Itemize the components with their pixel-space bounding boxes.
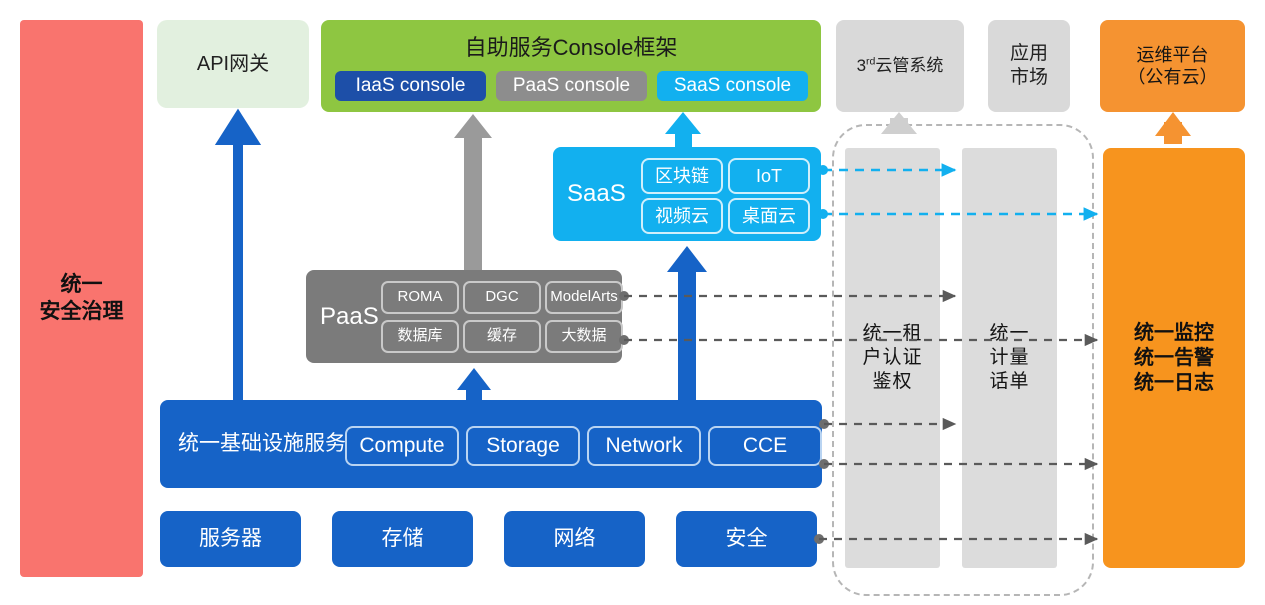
infra-chip-cce[interactable]: CCE (708, 426, 822, 466)
saas-chip-desktop-cloud-label: 桌面云 (742, 205, 796, 228)
arrow-infra-to-api-gateway (223, 117, 253, 400)
hardware-box-storage[interactable]: 存储 (332, 511, 473, 567)
unified-infrastructure-service-bar: 统一基础设施服务 Compute Storage Network CCE (160, 400, 822, 488)
hardware-box-server[interactable]: 服务器 (160, 511, 301, 567)
ops-platform-box[interactable]: 运维平台 （公有云） (1100, 20, 1245, 112)
api-gateway-box[interactable]: API网关 (157, 20, 309, 108)
saas-console-label: SaaS console (674, 74, 791, 98)
hardware-box-server-label: 服务器 (199, 526, 262, 552)
paas-chip-modelarts[interactable]: ModelArts (545, 281, 623, 314)
infra-chip-storage[interactable]: Storage (466, 426, 580, 466)
saas-chip-video-cloud-label: 视频云 (655, 205, 709, 228)
self-service-console-frame: 自助服务Console框架 IaaS console PaaS console … (321, 20, 821, 112)
service-column-tenant-auth-label: 统一租 户认证 鉴权 (862, 322, 922, 393)
saas-chip-blockchain[interactable]: 区块链 (641, 158, 723, 194)
paas-chip-roma-label: ROMA (398, 288, 443, 307)
third-party-suffix: 云管系统 (875, 56, 943, 75)
infra-chip-network-label: Network (605, 433, 682, 459)
infra-chip-cce-label: CCE (743, 433, 787, 459)
arrow-saas-to-console-frame (665, 112, 701, 148)
paas-console-label: PaaS console (513, 74, 630, 98)
unified-monitoring-label: 统一监控 统一告警 统一日志 (1134, 321, 1214, 396)
saas-chip-video-cloud[interactable]: 视频云 (641, 198, 723, 234)
iaas-console-label: IaaS console (356, 74, 466, 98)
service-column-tenant-auth[interactable]: 统一租 户认证 鉴权 (845, 148, 940, 568)
unified-security-governance-label: 统一 安全治理 (40, 272, 124, 325)
hardware-box-network[interactable]: 网络 (504, 511, 645, 567)
saas-chip-iot[interactable]: IoT (728, 158, 810, 194)
paas-chip-database[interactable]: 数据库 (381, 320, 459, 353)
paas-chip-database-label: 数据库 (397, 327, 442, 346)
third-party-cloud-management-box[interactable]: 3rd云管系统 (836, 20, 964, 112)
iaas-console-button[interactable]: IaaS console (335, 71, 486, 101)
paas-panel: PaaS ROMA DGC ModelArts 数据库 缓存 大数据 (306, 270, 622, 363)
paas-chip-roma[interactable]: ROMA (381, 281, 459, 314)
infra-chip-storage-label: Storage (486, 433, 560, 459)
arrow-infra-to-paas (457, 368, 491, 400)
infra-chip-compute-label: Compute (359, 433, 444, 459)
unified-security-governance-column: 统一 安全治理 (20, 20, 143, 577)
infra-chip-network[interactable]: Network (587, 426, 701, 466)
unified-infrastructure-service-label: 统一基础设施服务 (178, 431, 346, 457)
hardware-box-security[interactable]: 安全 (676, 511, 817, 567)
saas-console-button[interactable]: SaaS console (657, 71, 808, 101)
hardware-box-network-label: 网络 (554, 526, 596, 552)
architecture-diagram: 统一 安全治理 API网关 自助服务Console框架 IaaS console… (0, 0, 1265, 605)
saas-chip-desktop-cloud[interactable]: 桌面云 (728, 198, 810, 234)
paas-chip-cache-label: 缓存 (487, 327, 517, 346)
paas-console-button[interactable]: PaaS console (496, 71, 647, 101)
third-party-prefix: 3 (857, 56, 866, 75)
ops-platform-label: 运维平台 （公有云） (1128, 44, 1218, 89)
hardware-box-storage-label: 存储 (382, 526, 424, 552)
unified-monitoring-column[interactable]: 统一监控 统一告警 统一日志 (1103, 148, 1245, 568)
third-party-cloud-management-label: 3rd云管系统 (857, 55, 944, 76)
saas-chip-blockchain-label: 区块链 (655, 165, 709, 188)
paas-chip-dgc[interactable]: DGC (463, 281, 541, 314)
app-market-label: 应用 市场 (1010, 42, 1048, 90)
infra-chip-compute[interactable]: Compute (345, 426, 459, 466)
self-service-console-title: 自助服务Console框架 (321, 34, 821, 62)
saas-chip-iot-label: IoT (756, 165, 782, 188)
saas-panel-label: SaaS (567, 179, 626, 209)
api-gateway-label: API网关 (197, 52, 269, 77)
app-market-box[interactable]: 应用 市场 (988, 20, 1070, 112)
arrow-infra-to-saas (667, 246, 707, 400)
saas-panel: SaaS 区块链 IoT 视频云 桌面云 (553, 147, 821, 241)
hardware-box-security-label: 安全 (726, 526, 768, 552)
paas-chip-dgc-label: DGC (485, 288, 518, 307)
paas-chip-cache[interactable]: 缓存 (463, 320, 541, 353)
arrow-to-ops-platform (1155, 112, 1191, 144)
paas-chip-bigdata[interactable]: 大数据 (545, 320, 623, 353)
arrow-paas-to-console-frame (454, 114, 492, 270)
service-column-metering-billing[interactable]: 统一 计量 话单 (962, 148, 1057, 568)
paas-chip-modelarts-label: ModelArts (550, 288, 618, 307)
paas-panel-label: PaaS (320, 302, 379, 332)
paas-chip-bigdata-label: 大数据 (561, 327, 606, 346)
service-column-metering-billing-label: 统一 计量 话单 (989, 322, 1029, 393)
